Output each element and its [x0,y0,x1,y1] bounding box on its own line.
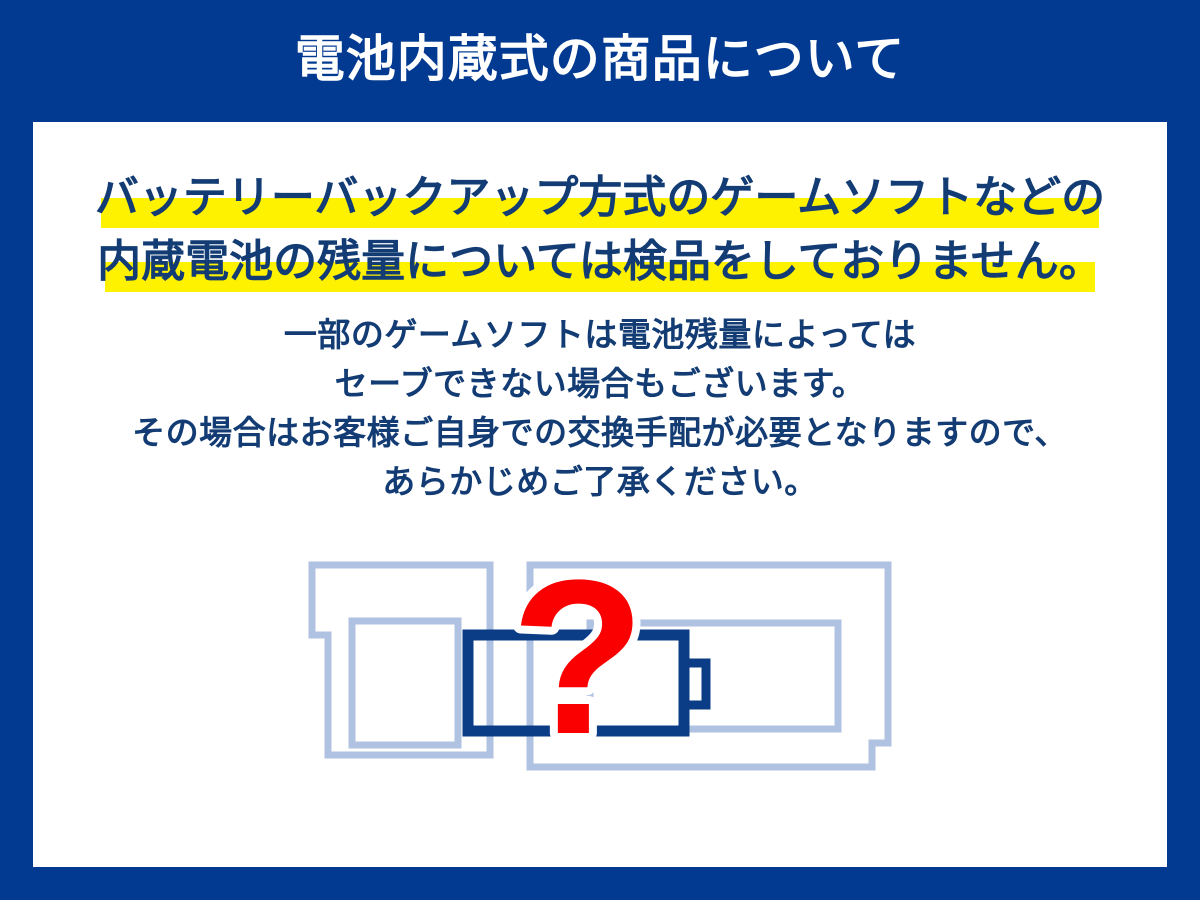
body-block: 一部のゲームソフトは電池残量によっては セーブできない場合もございます。 その場… [33,310,1167,506]
headline-line-2: 内蔵電池の残量については検品をしておりません。 [33,230,1167,294]
poster-root: 電池内蔵式の商品について バッテリーバックアップ方式のゲームソフトなどの 内蔵電… [0,0,1200,900]
headline-line-1: バッテリーバックアップ方式のゲームソフトなどの [33,166,1167,230]
headline-text-1: バッテリーバックアップ方式のゲームソフトなどの [95,166,1105,230]
question-mark-glyph: ? [511,547,645,780]
header-band: 電池内蔵式の商品について [0,0,1200,122]
body-line-4: あらかじめご了承ください。 [33,457,1167,506]
illustration-group: ? ? [33,532,1167,802]
headline-text-2: 内蔵電池の残量については検品をしておりません。 [97,230,1103,294]
body-line-1: 一部のゲームソフトは電池残量によっては [33,310,1167,359]
page-title: 電池内蔵式の商品について [295,34,906,84]
body-line-3: その場合はお客様ご自身での交換手配が必要となりますので、 [33,408,1167,457]
illustration-svg: ? ? [290,547,910,787]
headline-block: バッテリーバックアップ方式のゲームソフトなどの 内蔵電池の残量については検品をし… [33,166,1167,294]
content-panel: バッテリーバックアップ方式のゲームソフトなどの 内蔵電池の残量については検品をし… [33,122,1167,867]
body-line-2: セーブできない場合もございます。 [33,359,1167,408]
cartridge-portrait-label [352,621,458,745]
question-mark-icon: ? ? [511,547,645,780]
battery-terminal [684,663,706,705]
